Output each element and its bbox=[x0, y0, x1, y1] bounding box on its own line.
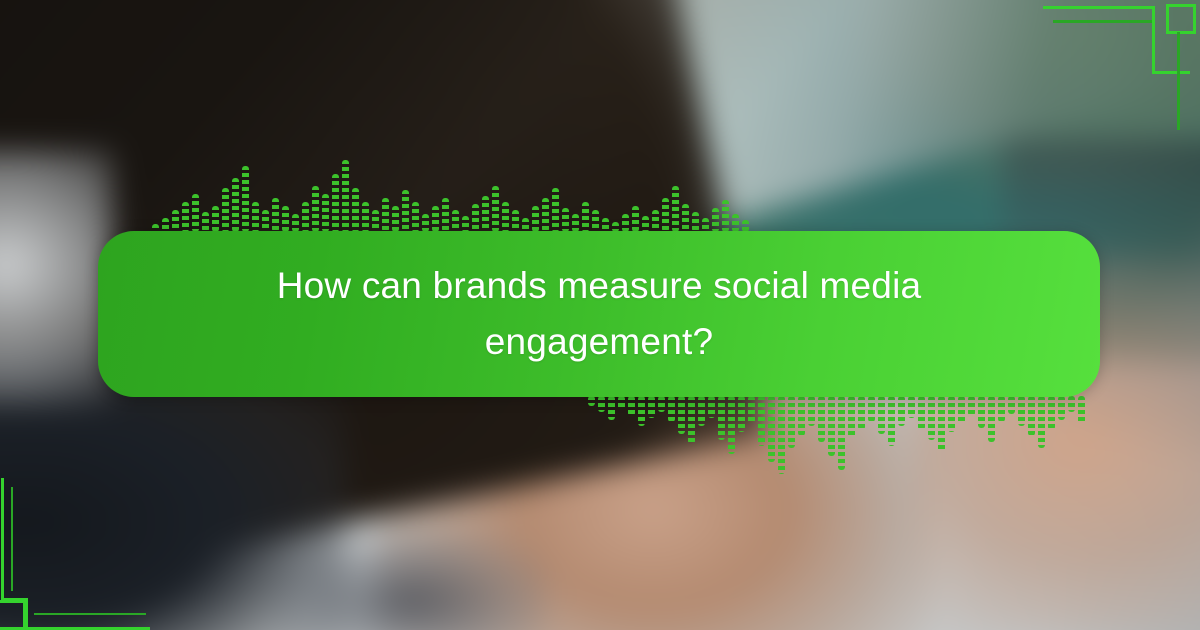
background-mouse-layer bbox=[271, 532, 547, 630]
question-banner: How can brands measure social media enga… bbox=[98, 231, 1100, 397]
background-cuff-layer bbox=[0, 151, 112, 405]
share-card: How can brands measure social media enga… bbox=[0, 0, 1200, 630]
banner-title: How can brands measure social media enga… bbox=[259, 258, 939, 370]
